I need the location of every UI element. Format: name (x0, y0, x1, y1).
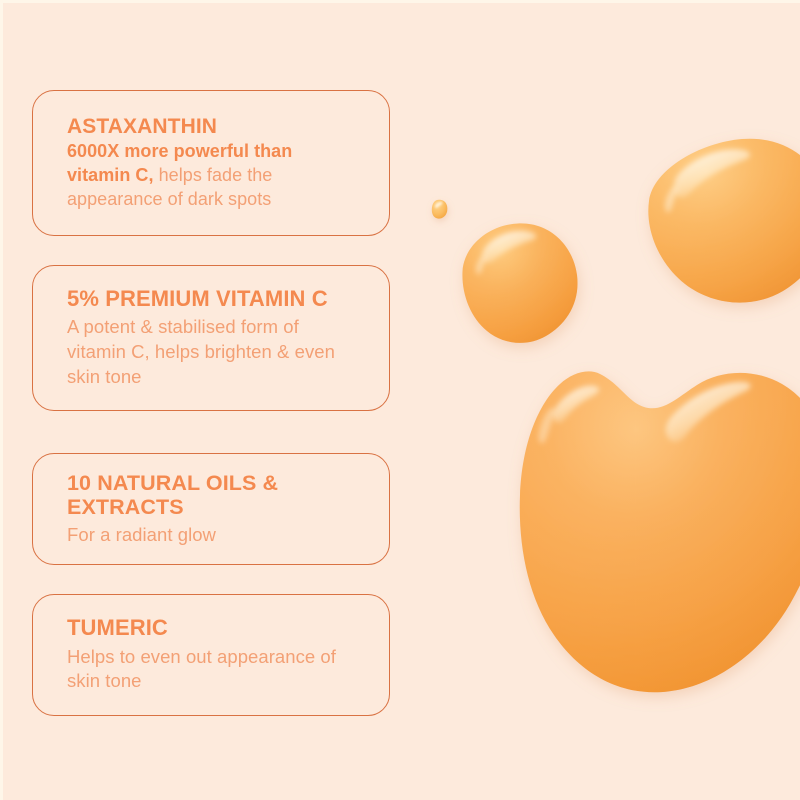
benefit-card-title: TUMERIC (67, 616, 355, 641)
infographic-canvas: ASTAXANTHIN 6000X more powerful thanvita… (0, 0, 800, 800)
benefit-card-body: A potent & stabilised form of vitamin C,… (67, 315, 355, 389)
benefit-card-astaxanthin[interactable]: ASTAXANTHIN 6000X more powerful thanvita… (32, 90, 390, 236)
benefit-card-body-strong: vitamin C, (67, 165, 154, 185)
benefit-card-title: ASTAXANTHIN (67, 115, 355, 139)
benefit-card-list: ASTAXANTHIN 6000X more powerful thanvita… (0, 0, 800, 800)
benefit-card-tumeric[interactable]: TUMERIC Helps to even out appearance of … (32, 594, 390, 716)
benefit-card-title: 10 NATURAL OILS & EXTRACTS (67, 471, 355, 519)
benefit-card-body: 6000X more powerful thanvitamin C, helps… (67, 139, 355, 211)
benefit-card-body: Helps to even out appearance of skin ton… (67, 645, 355, 694)
benefit-card-vitamin-c[interactable]: 5% PREMIUM VITAMIN C A potent & stabilis… (32, 265, 390, 411)
benefit-card-body-lead: 6000X more powerful than (67, 139, 355, 163)
benefit-card-title: 5% PREMIUM VITAMIN C (67, 287, 355, 312)
benefit-card-natural-oils[interactable]: 10 NATURAL OILS & EXTRACTS For a radiant… (32, 453, 390, 565)
benefit-card-body: For a radiant glow (67, 523, 355, 548)
